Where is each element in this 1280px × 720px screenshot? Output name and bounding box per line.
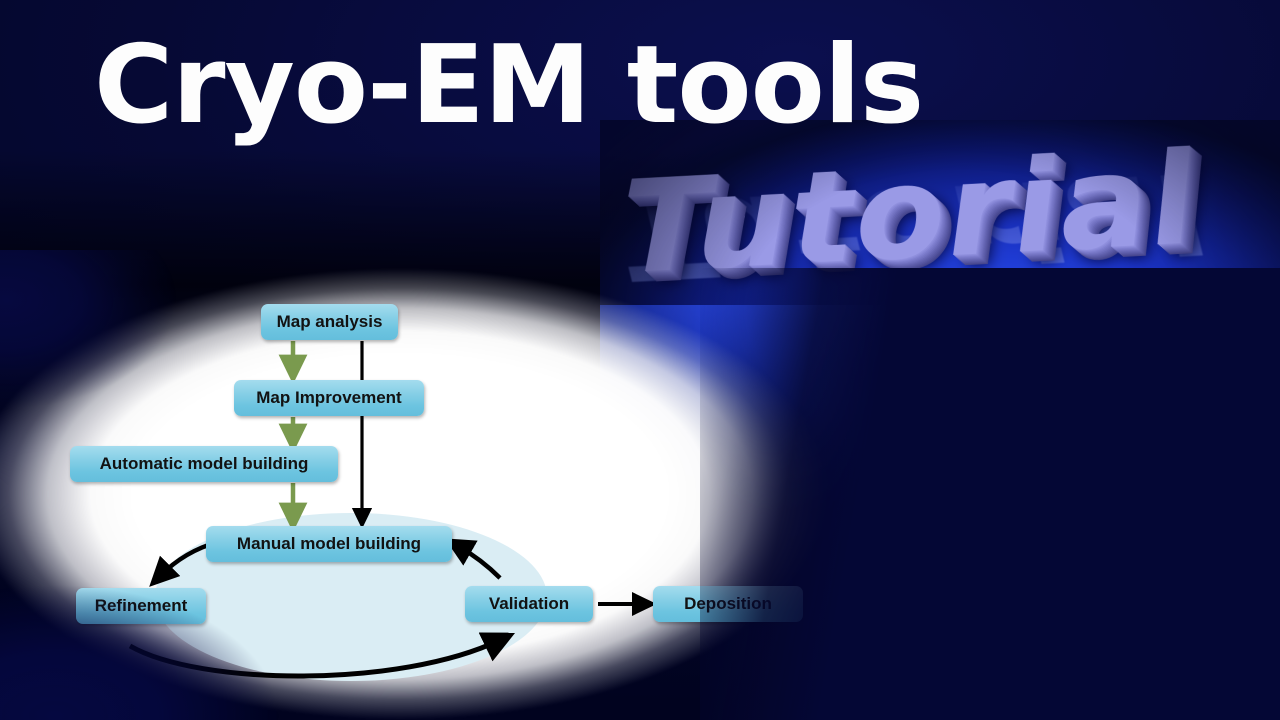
node-deposition[interactable]: Deposition (653, 586, 803, 622)
node-map-analysis[interactable]: Map analysis (261, 304, 398, 340)
slide-canvas: Tutorial Tutorial Cryo-EM tools (0, 0, 1280, 720)
node-manual-model-building[interactable]: Manual model building (206, 526, 452, 562)
node-validation[interactable]: Validation (465, 586, 593, 622)
node-automatic-model-building[interactable]: Automatic model building (70, 446, 338, 482)
cryoem-workflow-diagram: Map analysis Map Improvement Automatic m… (0, 268, 830, 720)
edge-validation-to-manual (458, 546, 500, 578)
page-title: Cryo-EM tools (94, 26, 923, 146)
workflow-arrows (0, 268, 830, 720)
edge-refinement-to-validation (130, 640, 500, 676)
node-refinement[interactable]: Refinement (76, 588, 206, 624)
node-map-improvement[interactable]: Map Improvement (234, 380, 424, 416)
